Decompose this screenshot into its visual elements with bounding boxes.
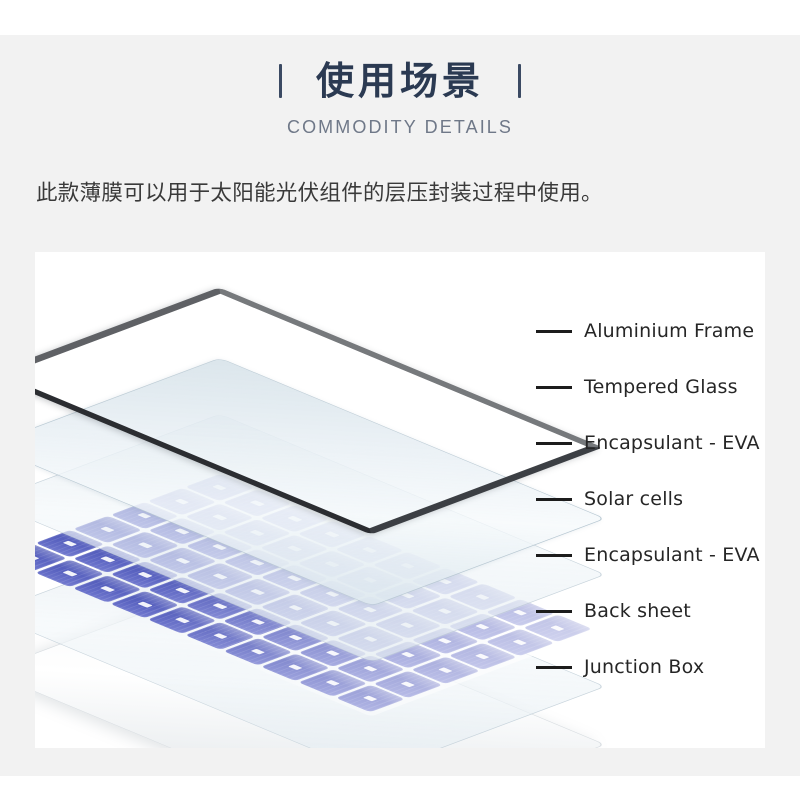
leader-line-icon bbox=[536, 386, 572, 389]
callout-encapsulant-eva-top: Encapsulant - EVA bbox=[536, 432, 760, 454]
title-tick-left-icon bbox=[279, 64, 282, 98]
leader-line-icon bbox=[536, 666, 572, 669]
callout-junction-box: Junction Box bbox=[536, 656, 704, 678]
page-subtitle: COMMODITY DETAILS bbox=[0, 117, 800, 138]
callout-label: Junction Box bbox=[584, 656, 704, 678]
callout-aluminium-frame: Aluminium Frame bbox=[536, 320, 754, 342]
section-header: 使用场景 COMMODITY DETAILS bbox=[0, 56, 800, 138]
callout-label: Aluminium Frame bbox=[584, 320, 754, 342]
title-row: 使用场景 bbox=[0, 56, 800, 106]
leader-line-icon bbox=[536, 330, 572, 333]
leader-line-icon bbox=[536, 610, 572, 613]
page-title: 使用场景 bbox=[316, 62, 484, 100]
exploded-diagram bbox=[35, 252, 575, 748]
leader-line-icon bbox=[536, 498, 572, 501]
leader-line-icon bbox=[536, 442, 572, 445]
callout-solar-cells: Solar cells bbox=[536, 488, 683, 510]
layer-aluminium-frame bbox=[35, 252, 465, 556]
callout-label: Tempered Glass bbox=[584, 376, 738, 398]
page-root: 使用场景 COMMODITY DETAILS 此款薄膜可以用于太阳能光伏组件的层… bbox=[0, 0, 800, 800]
leader-line-icon bbox=[536, 554, 572, 557]
callout-label: Encapsulant - EVA bbox=[584, 544, 760, 566]
callout-tempered-glass: Tempered Glass bbox=[536, 376, 738, 398]
intro-paragraph: 此款薄膜可以用于太阳能光伏组件的层压封装过程中使用。 bbox=[36, 176, 766, 207]
callout-encapsulant-eva-bottom: Encapsulant - EVA bbox=[536, 544, 760, 566]
callout-back-sheet: Back sheet bbox=[536, 600, 691, 622]
callout-label: Solar cells bbox=[584, 488, 683, 510]
callout-label: Encapsulant - EVA bbox=[584, 432, 760, 454]
callout-label: Back sheet bbox=[584, 600, 691, 622]
footer-gray-band bbox=[0, 748, 800, 776]
title-tick-right-icon bbox=[518, 64, 521, 98]
